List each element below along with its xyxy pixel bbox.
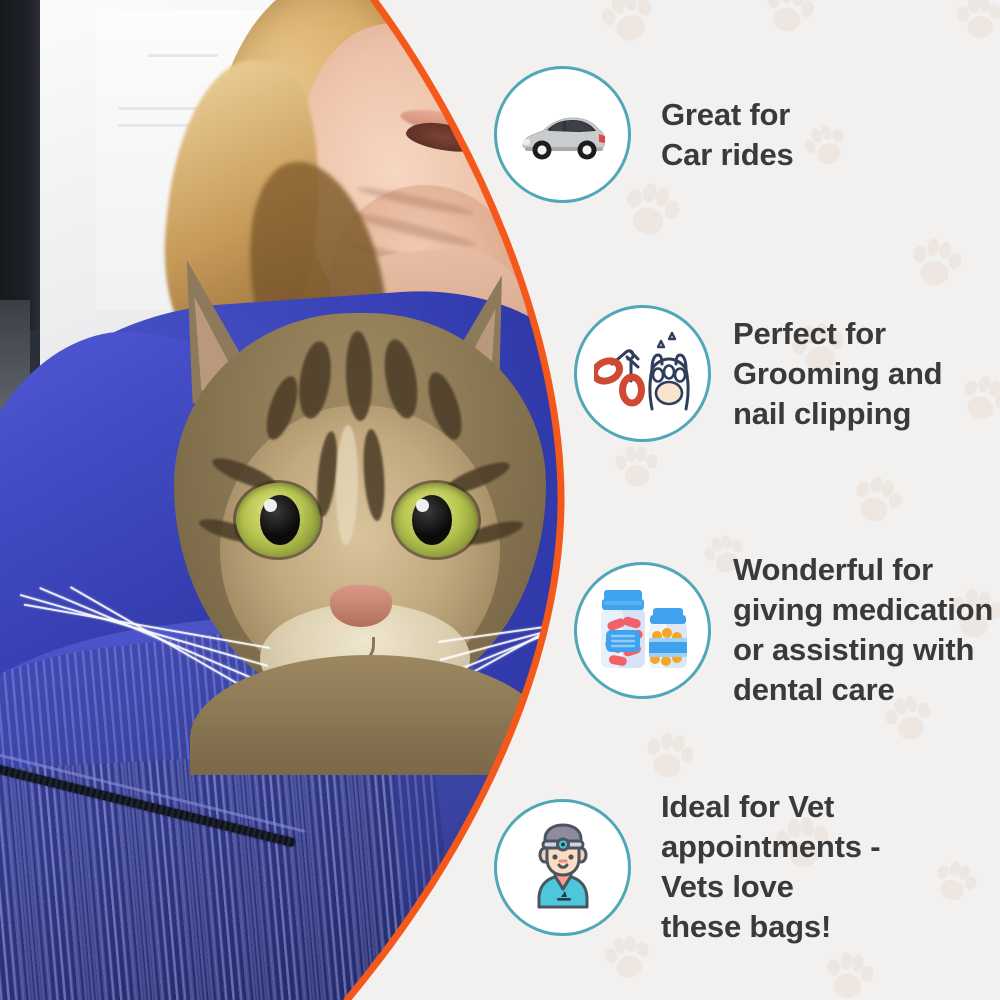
cat-eye-left xyxy=(236,483,320,557)
veterinarian-icon xyxy=(517,821,609,913)
feature-icon-circle xyxy=(574,562,711,699)
infographic-canvas: Great for Car rides xyxy=(0,0,1000,1000)
feature-item-vet: Ideal for Vet appointments - Vets love t… xyxy=(494,787,880,947)
cat-eye-right xyxy=(394,483,478,557)
feature-item-grooming: Perfect for Grooming and nail clipping xyxy=(574,305,942,442)
feature-icon-circle xyxy=(494,799,631,936)
feature-label: Perfect for Grooming and nail clipping xyxy=(733,314,942,434)
feature-label: Great for Car rides xyxy=(661,95,794,175)
nail-clippers-paw-icon xyxy=(594,331,692,417)
feature-list: Great for Car rides xyxy=(480,0,1000,1000)
pill-bottles-icon xyxy=(593,586,693,674)
feature-icon-circle xyxy=(494,66,631,203)
feature-item-car-rides: Great for Car rides xyxy=(494,66,794,203)
feature-icon-circle xyxy=(574,305,711,442)
car-icon xyxy=(517,106,609,164)
feature-label: Ideal for Vet appointments - Vets love t… xyxy=(661,787,880,947)
feature-label: Wonderful for giving medication or assis… xyxy=(733,550,993,710)
feature-item-medication: Wonderful for giving medication or assis… xyxy=(574,550,993,710)
